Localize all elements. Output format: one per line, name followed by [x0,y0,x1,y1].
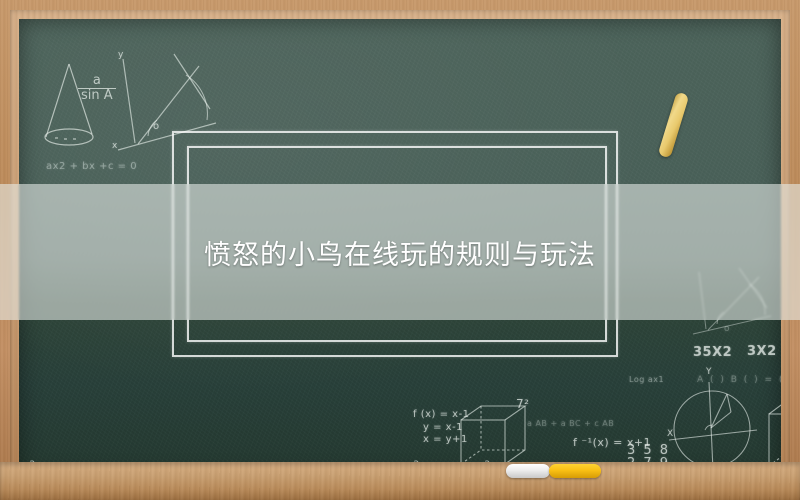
chalk-fraction-asina-1: a sin A [78,74,116,102]
axis-label-x: x [112,141,118,151]
axis-label-y: y [118,50,124,60]
cone-drawing [29,39,139,159]
set-expression-text: a AB + a BC + c AB [527,419,614,428]
screenshot-root: a sin A y x o ax2 + bx +c = 0 [0,0,800,500]
white-chalk-icon [506,464,550,478]
circle-axis-label-y: Y [706,367,712,377]
function-line-1: f (x) = x-1 [413,409,470,420]
fraction-bar [78,88,116,89]
log-label-ax1: Log ax1 [629,375,664,384]
matrix-expression-text: A ( ) B ( ) = ( ) [697,375,781,385]
yellow-chalk-stick-icon [658,92,690,159]
matrix-label-35x2: 35X2 [693,345,732,360]
fraction-denominator: sin A [78,89,116,103]
function-line-2: y = x-1 [423,422,463,433]
fraction-numerator: a [90,74,104,88]
angle-label-top-right: o [724,324,730,334]
exponent-label-7sq: 7² [516,397,529,411]
quadratic-equation-text: ax2 + bx +c = 0 [46,161,137,172]
addition-row-1: 3 5 8 [627,443,670,458]
yellow-chalk-icon [549,464,601,478]
cube-drawing-right [767,394,781,472]
matrix-label-3x2: 3X2 [747,344,777,359]
circle-axis-label-x: X [667,429,674,439]
chalk-tray [0,462,800,500]
circle-axes-drawing [657,374,767,474]
inverse-function-text: f ⁻¹(x) = x+1 [573,436,651,449]
page-title: 愤怒的小鸟在线玩的规则与玩法 [0,184,800,320]
angle-label-o: o [153,121,160,132]
cube-drawing-left [459,404,527,466]
function-line-3: x = y+1 [423,434,468,445]
